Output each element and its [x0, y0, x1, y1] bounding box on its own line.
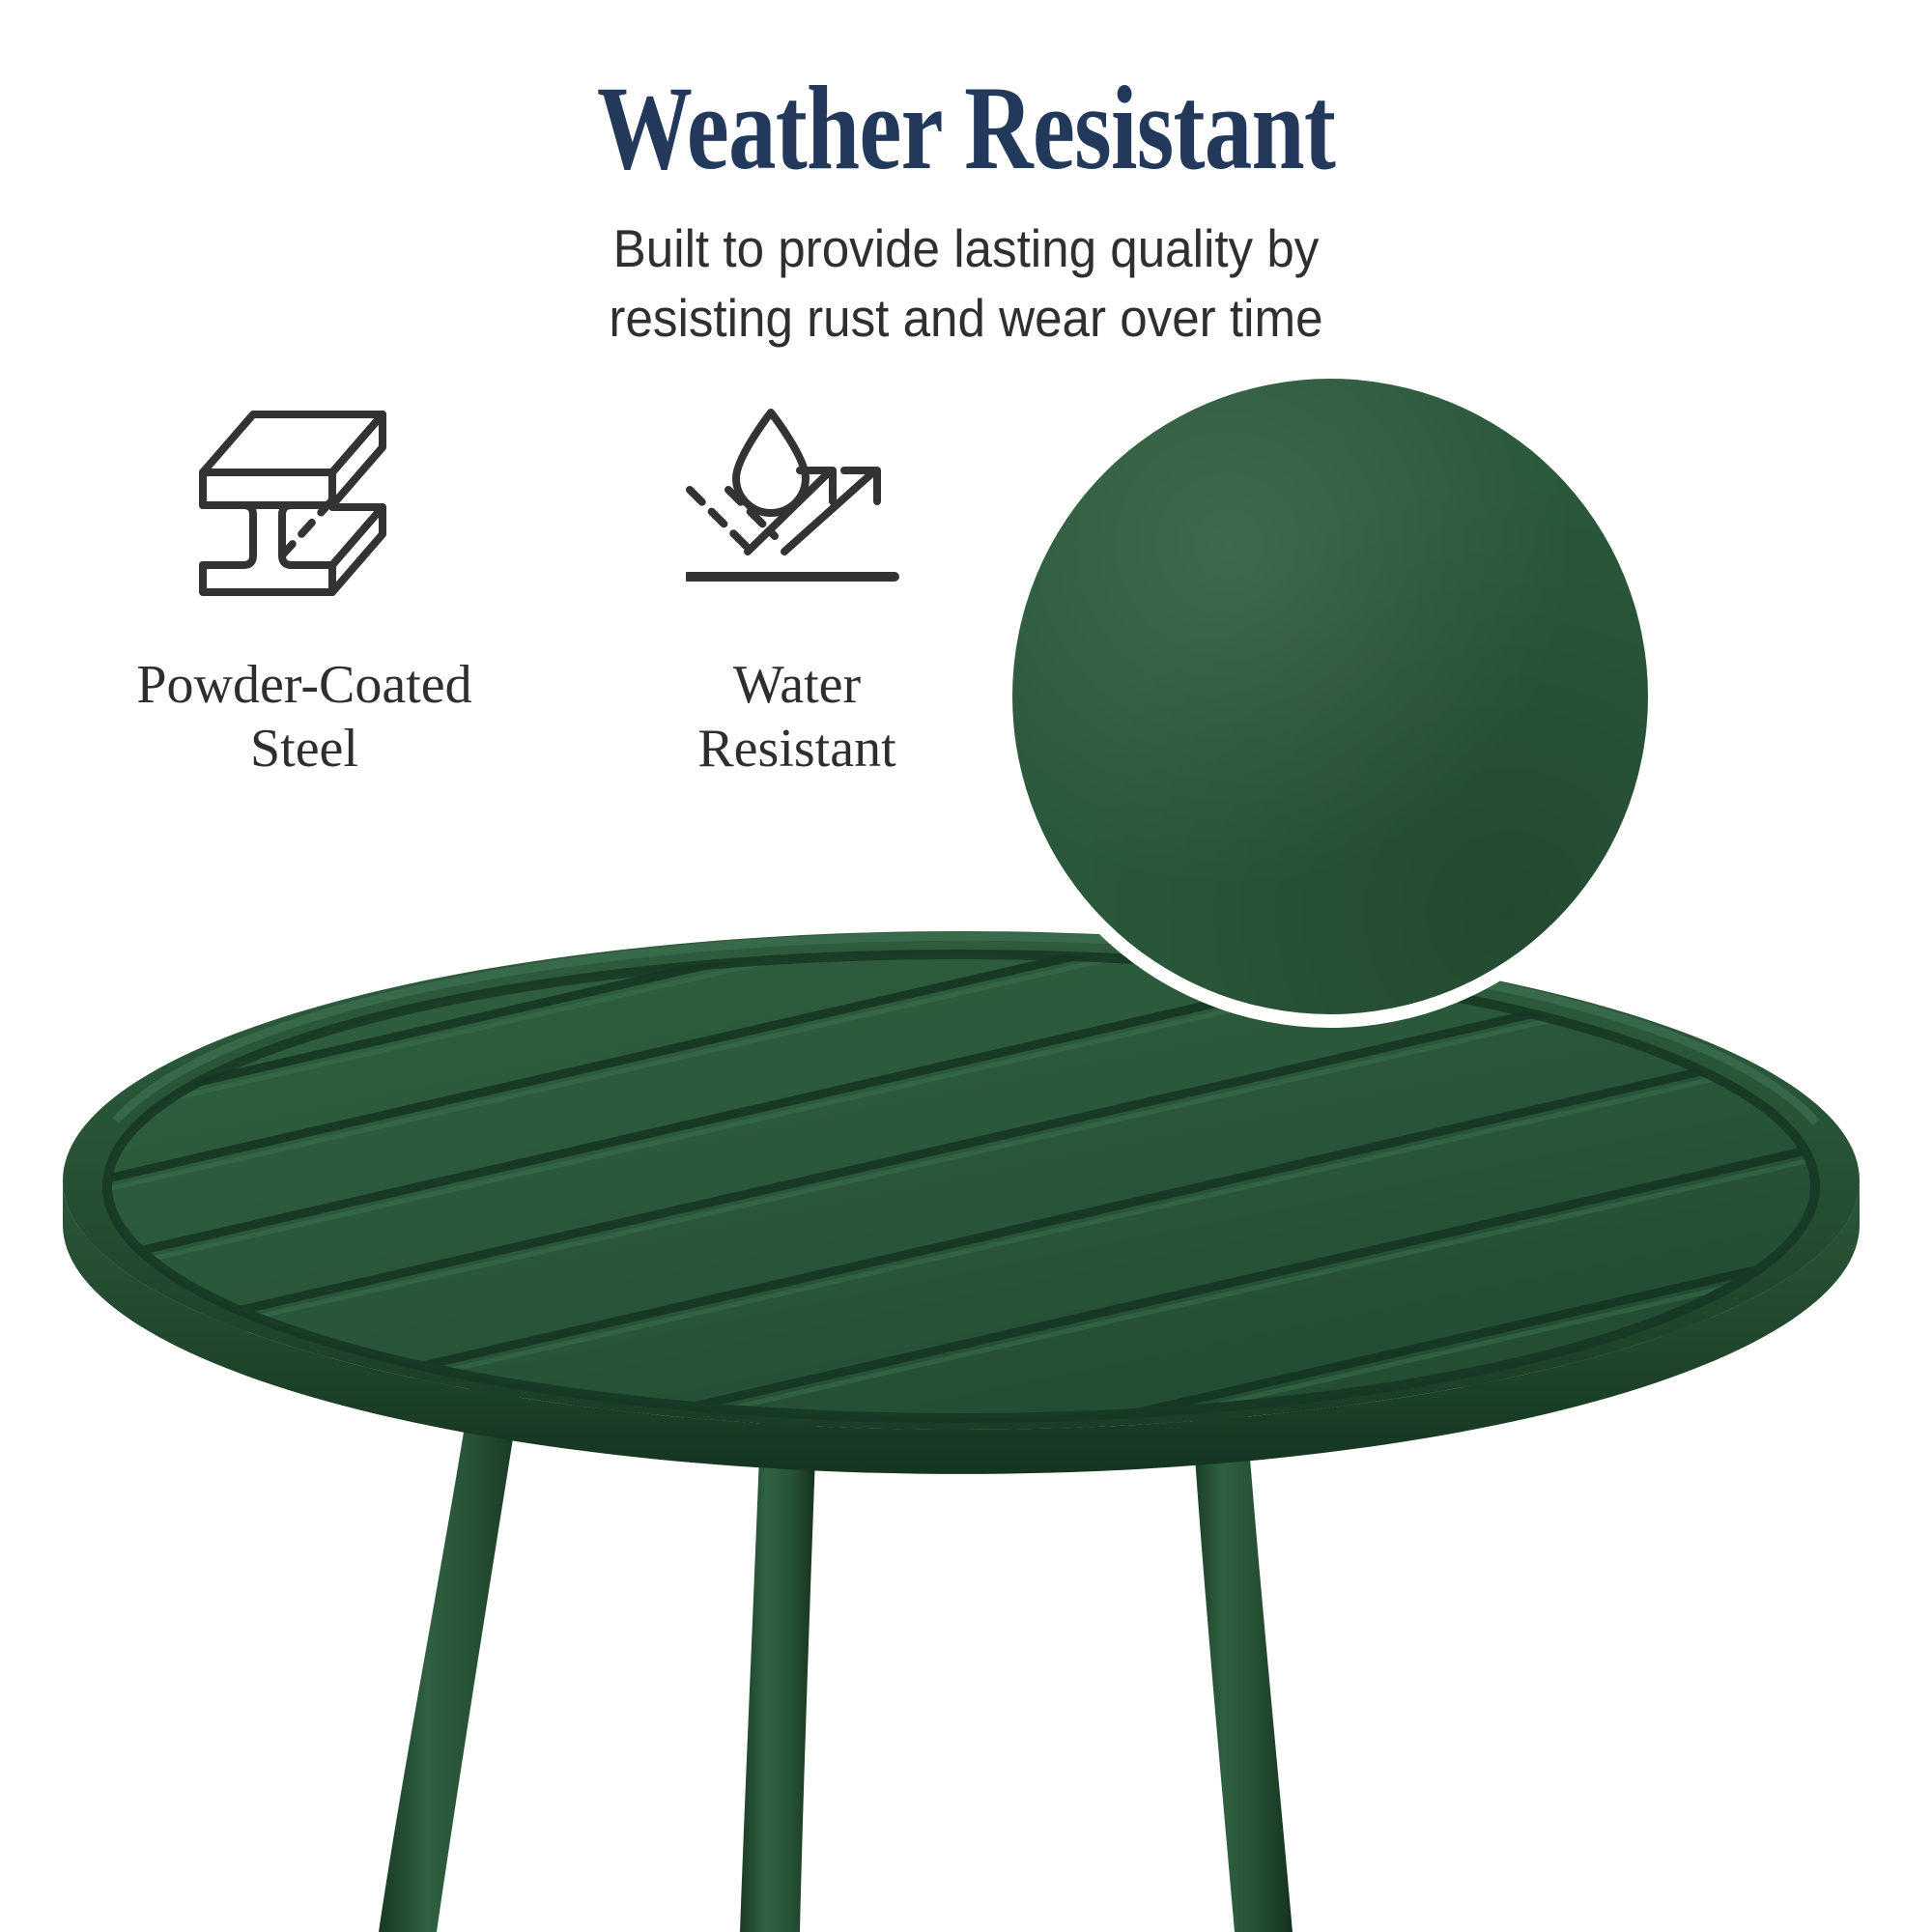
table-leg-center — [740, 1403, 817, 1932]
detail-zoom-circle — [1012, 379, 1648, 1014]
table-slat-groove — [734, 1636, 1932, 1932]
marketing-feature-panel: Weather Resistant Built to provide lasti… — [0, 0, 1932, 1932]
detail-sheen-overlay — [1012, 379, 1648, 1014]
